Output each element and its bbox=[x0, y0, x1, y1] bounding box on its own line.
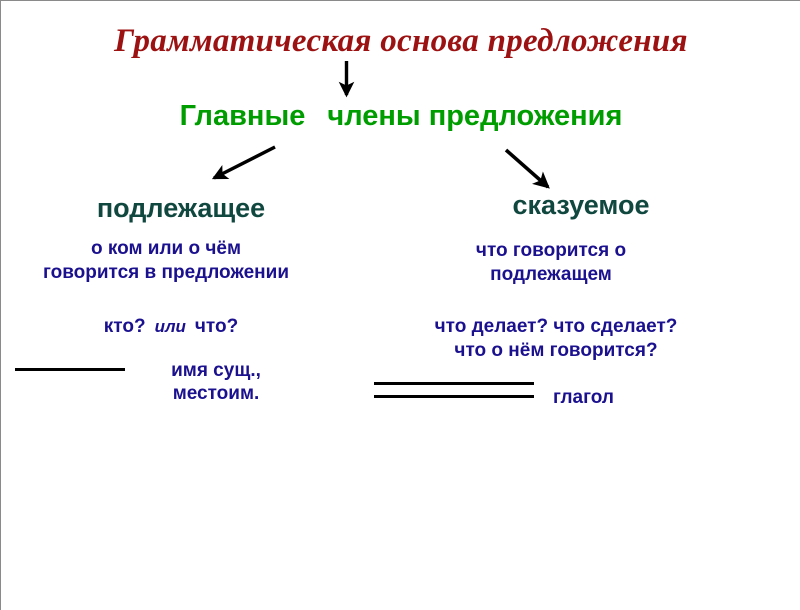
subject-heading: подлежащее bbox=[1, 193, 361, 224]
arrow-down-left-icon bbox=[214, 147, 275, 178]
subject-part-of-speech: имя сущ., местоим. bbox=[141, 359, 291, 405]
predicate-description: что говорится о подлежащем bbox=[401, 239, 701, 287]
subject-description-line-2: говорится в предложении bbox=[1, 261, 331, 285]
main-parts-heading: Главныечлены предложения bbox=[1, 100, 800, 133]
predicate-question-line-2: что о нём говорится? bbox=[371, 339, 741, 363]
page-title: Грамматическая основа предложения bbox=[1, 23, 800, 60]
predicate-heading: сказуемое bbox=[401, 190, 761, 221]
subject-question-2: что? bbox=[195, 316, 238, 337]
predicate-underline-bottom bbox=[374, 395, 534, 398]
predicate-description-line-1: что говорится о bbox=[401, 239, 701, 263]
main-parts-word-2: члены предложения bbox=[327, 100, 622, 132]
arrow-down-right-icon bbox=[506, 150, 548, 187]
subject-question-1: кто? bbox=[104, 316, 146, 337]
predicate-part-of-speech: глагол bbox=[553, 387, 673, 409]
predicate-underline-top bbox=[374, 382, 534, 385]
subject-part-of-speech-line-2: местоим. bbox=[141, 382, 291, 405]
subject-description-line-1: о ком или о чём bbox=[1, 237, 331, 261]
arrow-layer bbox=[1, 1, 800, 610]
subject-question-conjunction: или bbox=[155, 317, 186, 336]
slide-canvas: Грамматическая основа предложения Главны… bbox=[0, 0, 800, 610]
predicate-questions: что делает? что сделает? что о нём говор… bbox=[371, 315, 741, 363]
subject-part-of-speech-line-1: имя сущ., bbox=[141, 359, 291, 382]
predicate-double-underline-notation bbox=[374, 382, 534, 398]
subject-underline-notation bbox=[15, 368, 125, 371]
predicate-question-line-1: что делает? что сделает? bbox=[371, 315, 741, 339]
subject-questions: кто?иличто? bbox=[1, 316, 341, 338]
main-parts-word-1: Главные bbox=[180, 100, 306, 132]
predicate-description-line-2: подлежащем bbox=[401, 263, 701, 287]
subject-description: о ком или о чём говорится в предложении bbox=[1, 237, 331, 285]
